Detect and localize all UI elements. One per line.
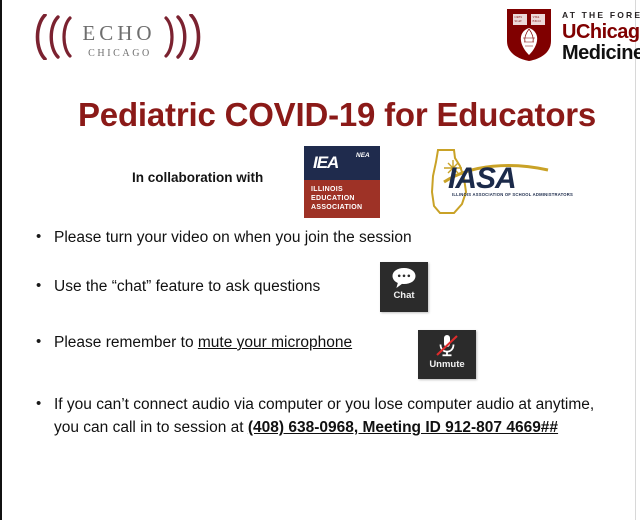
microphone-muted-icon	[434, 333, 460, 359]
iea-name-line-2: EDUCATION	[311, 194, 362, 203]
uchicago-tagline: AT THE FORE	[562, 10, 640, 21]
echo-sound-wave-left-icon	[26, 14, 74, 60]
bullet-text-video: Please turn your video on when you join …	[54, 226, 412, 249]
svg-text:SCAT: SCAT	[515, 19, 523, 23]
iea-name-line-3: ASSOCIATION	[311, 203, 362, 212]
uchicago-shield-crest-icon: CRES SCAT VITA EXCO	[506, 8, 552, 62]
uchicago-wordmark: AT THE FORE UChicago Medicine	[562, 10, 640, 64]
dial-in-number: (408) 638-0968, Meeting ID 912-807 4669#…	[248, 419, 558, 436]
iasa-tagline: ILLINOIS ASSOCIATION OF SCHOOL ADMINISTR…	[452, 192, 573, 197]
zoom-unmute-button[interactable]: Unmute	[418, 330, 476, 379]
bullet-item-video: • Please turn your video on when you joi…	[32, 226, 592, 249]
bullet-text-mute: Please remember to mute your microphone	[54, 331, 352, 354]
bullet-mute-emphasis: mute your microphone	[198, 334, 352, 351]
bullet-marker-icon: •	[32, 226, 54, 248]
iea-logo-top: IEA NEA	[304, 146, 380, 180]
echo-chicago-logo: ECHO CHICAGO	[26, 10, 226, 72]
iea-full-name: ILLINOIS EDUCATION ASSOCIATION	[311, 185, 362, 212]
collaboration-label: In collaboration with	[132, 170, 263, 185]
echo-chicago-subtitle: CHICAGO	[72, 48, 168, 60]
uchicago-medicine-name: Medicine	[562, 43, 640, 64]
zoom-unmute-button-label: Unmute	[429, 359, 464, 370]
zoom-chat-button[interactable]: Chat	[380, 262, 428, 312]
bullet-item-dial-in: • If you can’t connect audio via compute…	[32, 393, 632, 439]
bullet-marker-icon: •	[32, 275, 54, 297]
uchicago-name: UChicago	[562, 22, 640, 43]
bullet-marker-icon: •	[32, 393, 54, 415]
uchicago-medicine-logo: CRES SCAT VITA EXCO AT THE FORE UChicago…	[506, 6, 640, 68]
zoom-chat-button-label: Chat	[393, 290, 414, 301]
slide-title: Pediatric COVID-19 for Educators	[78, 96, 596, 134]
nea-affiliate-mark: NEA	[356, 152, 370, 159]
echo-sound-wave-right-icon	[162, 14, 210, 60]
bullet-item-mute: • Please remember to mute your microphon…	[32, 331, 472, 354]
bullet-text-chat: Use the “chat” feature to ask questions	[54, 275, 320, 298]
bullet-marker-icon: •	[32, 331, 54, 353]
chat-bubble-icon	[391, 266, 417, 290]
iea-logo: IEA NEA ILLINOIS EDUCATION ASSOCIATION	[304, 146, 380, 218]
echo-wordmark: ECHO	[72, 21, 166, 45]
iasa-logo: IASA ILLINOIS ASSOCIATION OF SCHOOL ADMI…	[422, 148, 552, 218]
svg-text:EXCO: EXCO	[533, 19, 542, 23]
bullet-mute-prefix: Please remember to	[54, 334, 198, 351]
presentation-slide: ECHO CHICAGO CRES SCAT VITA EXCO	[0, 0, 640, 520]
iea-name-line-1: ILLINOIS	[311, 185, 362, 194]
iea-abbreviation: IEA	[313, 154, 338, 172]
bullet-text-dial-in: If you can’t connect audio via computer …	[54, 393, 622, 439]
iea-logo-bottom: ILLINOIS EDUCATION ASSOCIATION	[304, 180, 380, 218]
iasa-abbreviation: IASA	[448, 164, 516, 194]
slide-right-edge-guide	[635, 0, 636, 520]
